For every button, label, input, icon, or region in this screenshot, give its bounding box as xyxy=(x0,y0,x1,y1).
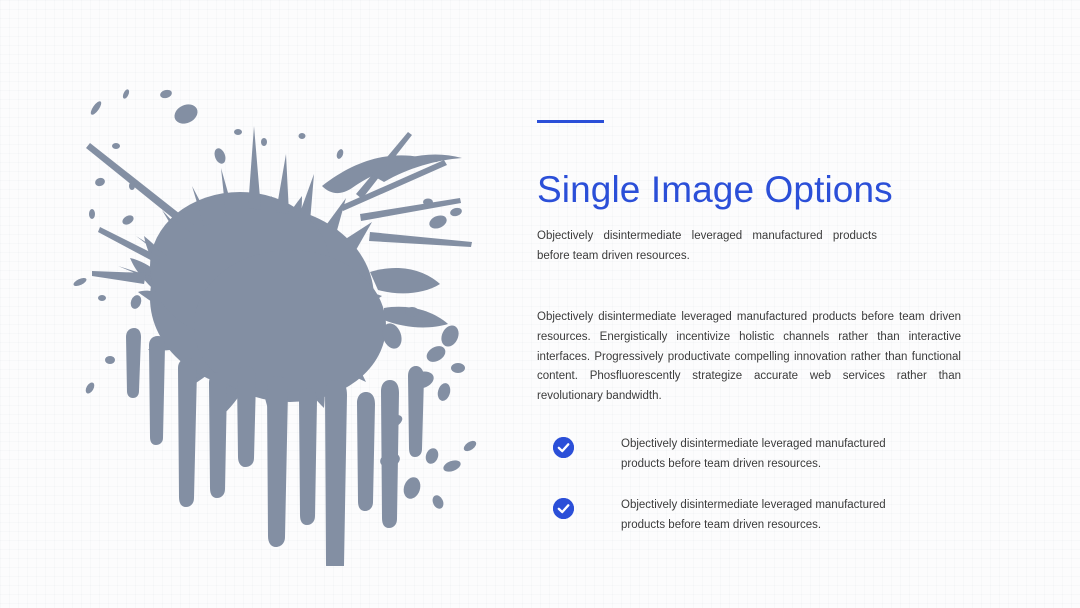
ink-splatter-graphic xyxy=(40,36,510,566)
lead-paragraph: Objectively disintermediate leveraged ma… xyxy=(537,226,877,266)
content-panel: Single Image Options Objectively disinte… xyxy=(537,120,965,536)
feature-list: Objectively disintermediate leveraged ma… xyxy=(537,435,965,536)
body-paragraph: Objectively disintermediate leveraged ma… xyxy=(537,308,961,407)
list-item: Objectively disintermediate leveraged ma… xyxy=(621,496,907,536)
check-circle-icon xyxy=(553,498,574,519)
check-circle-icon xyxy=(553,437,574,458)
list-item-label: Objectively disintermediate leveraged ma… xyxy=(621,438,886,470)
list-item-label: Objectively disintermediate leveraged ma… xyxy=(621,499,886,531)
list-item: Objectively disintermediate leveraged ma… xyxy=(621,435,907,475)
slide: Single Image Options Objectively disinte… xyxy=(0,0,1080,608)
page-title: Single Image Options xyxy=(537,171,965,210)
accent-rule xyxy=(537,120,604,123)
